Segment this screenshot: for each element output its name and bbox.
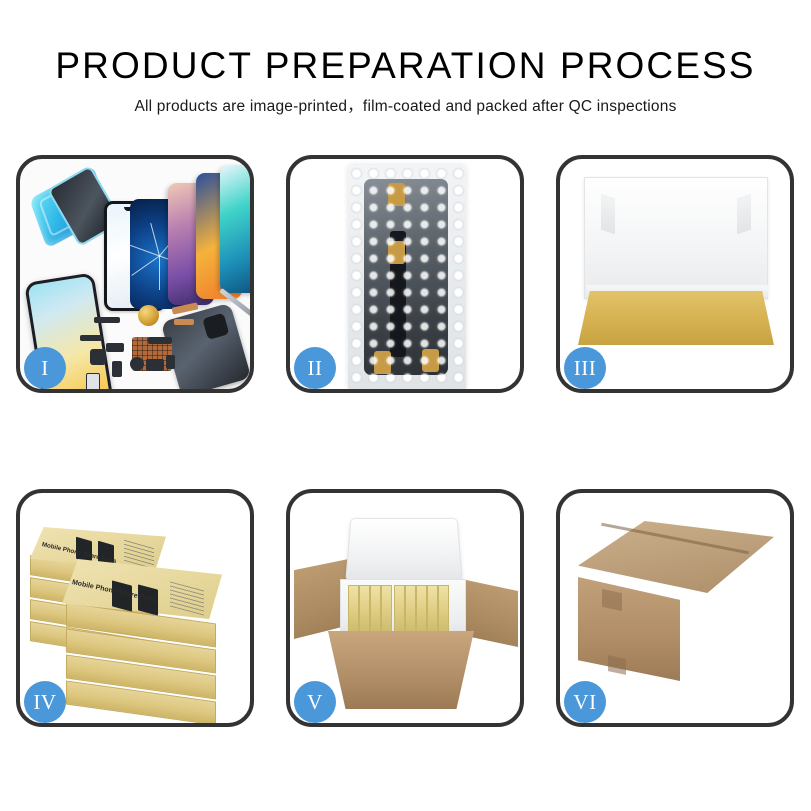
step-badge-5: V [294, 681, 336, 723]
gold-box-stack: Mobile Phone Spare Parts Mobile Phone Sp… [28, 509, 242, 715]
flex-cable-icon [80, 335, 102, 341]
white-box-lid [584, 177, 768, 299]
gold-box [359, 585, 370, 633]
process-step-panel-4: Mobile Phone Spare Parts Mobile Phone Sp… [16, 489, 254, 727]
part-chip-icon [146, 359, 164, 371]
step-badge-1: I [24, 347, 66, 389]
step-badge-2: II [294, 347, 336, 389]
gold-box [394, 585, 405, 633]
step-badge-4: IV [24, 681, 66, 723]
process-steps-grid: I II [16, 155, 795, 727]
gold-box [416, 585, 427, 633]
lid-flap-left [601, 194, 615, 235]
vibration-motor-icon [138, 305, 159, 326]
step-badge-6: VI [564, 681, 606, 723]
bubble-texture [348, 165, 466, 389]
page-title: PRODUCT PREPARATION PROCESS [0, 0, 811, 88]
part-chip-icon [106, 343, 124, 352]
part-chip-icon [130, 357, 144, 371]
gold-box [370, 585, 381, 633]
gold-box [348, 585, 359, 633]
bubble-wrap-bag [348, 165, 466, 389]
phone-backplate-icon [161, 303, 250, 389]
process-step-panel-5: V [286, 489, 524, 727]
lid-flap-right [737, 194, 751, 235]
process-step-panel-3: III [556, 155, 794, 393]
header: PRODUCT PREPARATION PROCESS All products… [0, 0, 811, 117]
part-chip-icon [112, 361, 122, 377]
phone-teal-icon [220, 165, 250, 293]
part-chip-icon [148, 337, 172, 344]
part-chip-icon [90, 349, 106, 365]
page-subtitle: All products are image-printed，film-coat… [0, 88, 811, 117]
part-chip-icon [86, 373, 100, 389]
process-step-panel-6: VI [556, 489, 794, 727]
part-chip-icon [166, 355, 175, 369]
carton-front-face [578, 577, 680, 681]
foam-cooler-lid [345, 518, 462, 581]
gold-box [427, 585, 438, 633]
gold-box-tray [578, 291, 774, 345]
carton-label-patch [608, 655, 626, 675]
carton-body [328, 631, 474, 709]
gold-boxes-inside [348, 585, 456, 631]
step-badge-3: III [564, 347, 606, 389]
flex-cable-icon [174, 319, 194, 325]
part-chip-icon [94, 317, 120, 323]
gold-box [381, 585, 392, 633]
process-step-panel-2: II [286, 155, 524, 393]
product-preparation-infographic: PRODUCT PREPARATION PROCESS All products… [0, 0, 811, 811]
gold-box [438, 585, 449, 633]
process-step-panel-1: I [16, 155, 254, 393]
gold-box [405, 585, 416, 633]
